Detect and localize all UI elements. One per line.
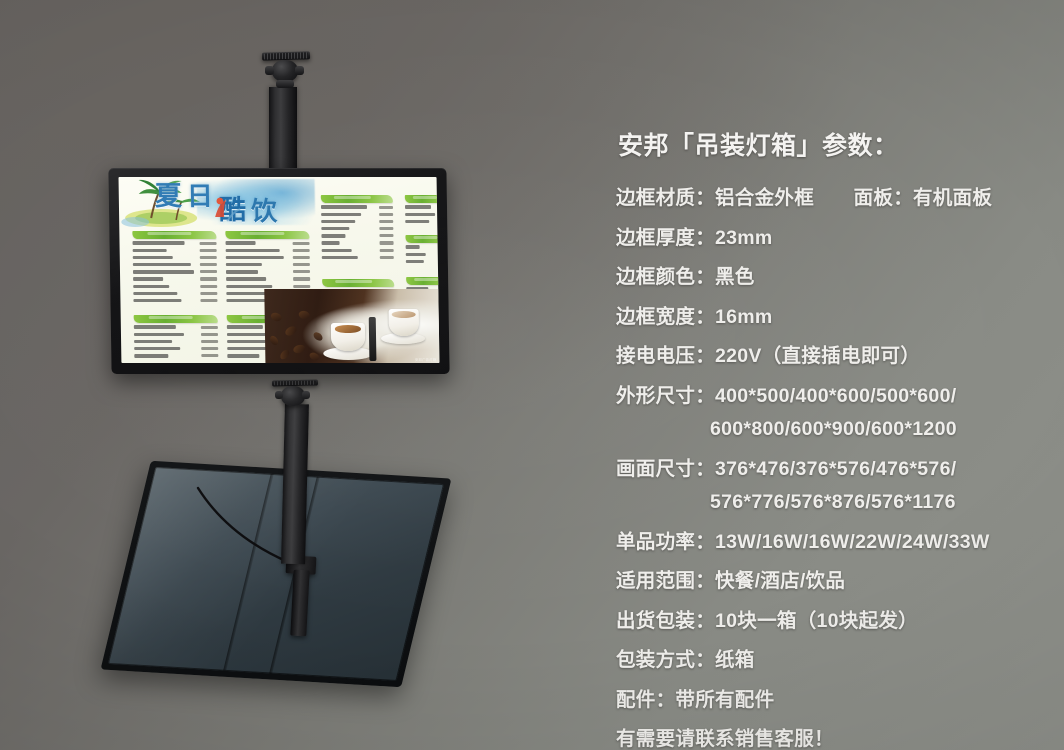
menu-artwork: 夏 日 酷 饮 [119,177,440,363]
spec-line-contact: 有需要请联系销售客服！ [616,722,1034,750]
menu-row [134,346,218,352]
menu-row [133,254,217,260]
menu-row [226,240,310,246]
menu-headline: 夏 日 酷 饮 [155,183,316,227]
menu-row [322,254,394,260]
menu-row [322,247,394,253]
menu-row [405,204,439,210]
menu-row [321,204,393,210]
menu-section-right-3 [405,195,440,225]
menu-headline-char-2: 日 [187,184,213,210]
menu-row [406,258,440,264]
spec-line-picture-size-cont: 576*776/576*876/576*1176 [710,491,1034,514]
menu-section-header [321,195,393,203]
menu-section-header [225,231,309,239]
spec-line-frame-color: 边框颜色：黑色 [616,260,1034,289]
menu-watermark: 安邦广告灯箱 [415,357,437,362]
coffee-cup-back [389,309,419,336]
menu-row [405,211,439,217]
coffee-photo: 安邦广告灯箱 [264,289,439,363]
menu-row [321,226,393,232]
menu-row [133,247,217,253]
menu-row [406,251,440,257]
menu-row [322,240,394,246]
spec-line-power: 单品功率：13W/16W/16W/22W/24W/33W [616,525,1034,554]
swivel-knob-top [265,66,274,75]
swivel-knob-middle-left [275,391,283,399]
spec-panel: 安邦「吊装灯箱」参数： 边框材质：铝合金外框 面板：有机面板 边框厚度：23mm… [614,126,1034,750]
menu-row [134,338,218,344]
spec-line-accessories: 配件：带所有配件 [616,683,1034,712]
menu-headline-char-1: 夏 [155,183,182,210]
menu-section-left-1 [132,231,217,304]
menu-section-header [132,231,216,239]
menu-row [226,262,310,268]
drop-pole-lower [281,404,309,565]
menu-row [133,298,217,304]
product-spec-image: 夏 日 酷 饮 [0,0,1064,750]
menu-row [134,353,218,359]
menu-section-left-2 [134,315,219,359]
light-box-back-panel [100,461,451,687]
menu-section-right-1 [321,195,394,260]
menu-row [405,218,439,224]
menu-row [406,244,440,250]
swivel-collar-top [276,80,294,88]
spec-title: 安邦「吊装灯箱」参数： [618,126,1034,162]
menu-row [133,283,217,289]
mount-plate-ridges-middle [274,381,316,386]
menu-stand [369,317,377,361]
mount-plate-ridges [264,52,308,59]
menu-row [226,276,310,282]
menu-section-right-4 [405,235,439,265]
menu-row [226,254,310,260]
spec-line-frame-material: 边框材质：铝合金外框 面板：有机面板 [616,181,1034,210]
swivel-knob-middle-right [302,391,310,399]
menu-row [321,211,393,217]
menu-section-header [405,235,439,243]
spec-line-outer-size-cont: 600*800/600*900/600*1200 [710,418,1034,441]
swivel-knob-top-right [295,66,304,75]
menu-section-header [406,277,439,285]
menu-section-header [405,195,440,203]
spec-line-frame-width: 边框宽度：16mm [616,300,1034,329]
spec-line-picture-size: 画面尺寸：376*476/376*576/476*576/ [616,452,1034,481]
menu-row [134,331,218,337]
menu-row [134,324,218,330]
menu-row [226,269,310,275]
drop-pole-top [269,87,297,179]
spec-line-voltage: 接电电压：220V（直接插电即可） [616,339,1034,368]
spec-line-outer-size: 外形尺寸：400*500/400*600/500*600/ [616,379,1034,408]
menu-row [321,218,393,224]
coffee-cup-front [331,323,365,351]
spec-line-shipping-pack: 出货包装：10块一箱（10块起发） [616,604,1034,633]
light-box-display: 夏 日 酷 饮 [108,168,449,374]
panel-sheen [108,467,444,681]
back-panel-face [108,467,444,681]
menu-headline-char-4: 饮 [251,199,277,225]
menu-row [321,233,393,239]
menu-row [132,240,216,246]
menu-row [133,262,217,268]
menu-row [133,269,217,275]
spec-line-applications: 适用范围：快餐/酒店/饮品 [616,564,1034,593]
spec-line-frame-thickness: 边框厚度：23mm [616,221,1034,250]
menu-row [133,276,217,282]
menu-row [133,290,217,296]
menu-row [226,247,310,253]
headline-accent-icon [211,195,245,225]
menu-section-header [322,279,394,287]
menu-section-header [134,315,218,323]
spec-line-packaging: 包装方式：纸箱 [616,643,1034,672]
